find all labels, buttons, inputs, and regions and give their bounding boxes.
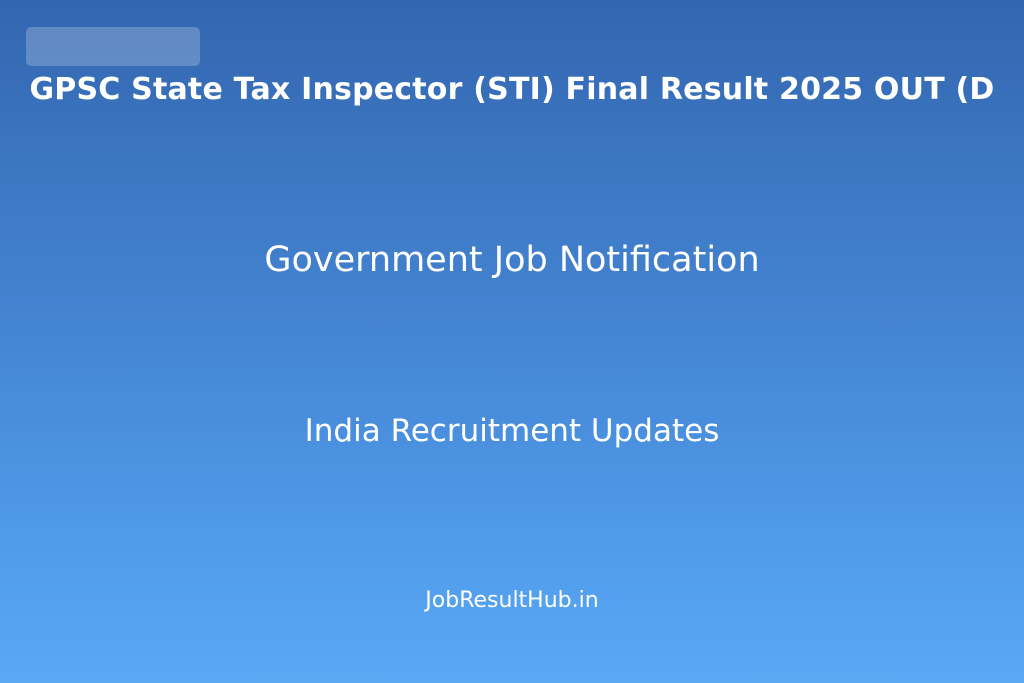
headline-container: GPSC State Tax Inspector (STI) Final Res… xyxy=(0,70,1024,110)
subtitle-primary: Government Job Notification xyxy=(264,237,759,283)
subtitle-secondary: India Recruitment Updates xyxy=(305,410,720,452)
page-title: GPSC State Tax Inspector (STI) Final Res… xyxy=(29,70,994,110)
subtitle-secondary-container: India Recruitment Updates xyxy=(0,410,1024,452)
footer-container: JobResultHub.in xyxy=(0,585,1024,617)
footer-site-name: JobResultHub.in xyxy=(425,585,598,617)
banner-canvas: GPSC State Tax Inspector (STI) Final Res… xyxy=(0,0,1024,683)
subtitle-primary-container: Government Job Notification xyxy=(0,237,1024,283)
logo-placeholder-box xyxy=(26,27,200,66)
